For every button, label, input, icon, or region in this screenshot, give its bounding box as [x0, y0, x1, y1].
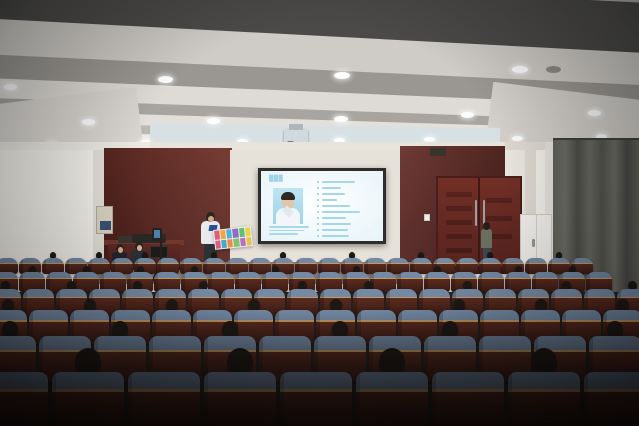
- camera-screen: [154, 230, 160, 238]
- seat-wood-trim: [128, 389, 200, 392]
- seat-wood-trim: [52, 389, 124, 392]
- seat-back-top: [152, 310, 191, 320]
- seat-wood-trim: [70, 320, 109, 322]
- seat-back-top: [188, 289, 219, 297]
- seat-back-top: [259, 336, 311, 350]
- slide-portrait-photo: [273, 188, 303, 224]
- bullet-dot-icon: [317, 187, 319, 189]
- seat-back-top: [275, 310, 314, 320]
- seat-cushion: [52, 392, 124, 426]
- slide-bullet-list: [317, 181, 381, 241]
- projection-screen-surface: ███: [261, 171, 383, 241]
- seat-back-top: [562, 310, 601, 320]
- seat-wood-trim: [0, 350, 36, 353]
- seat-back-top: [29, 310, 68, 320]
- seat-back-top: [353, 289, 384, 297]
- bullet-dot-icon: [317, 223, 319, 225]
- seat-edge-shadow: [584, 372, 588, 426]
- row-front: [0, 372, 639, 426]
- seat-back-top: [386, 289, 417, 297]
- seat-back-top: [204, 336, 256, 350]
- seat-cushion: [0, 392, 48, 426]
- slide-bullet-text: [322, 235, 349, 237]
- seat-back-top: [584, 289, 615, 297]
- seat-wood-trim: [584, 389, 639, 392]
- ceiling-downlight: [4, 84, 17, 90]
- seat-back-top: [23, 289, 54, 297]
- seat-wood-trim: [23, 297, 54, 298]
- desk-equipment: [118, 236, 132, 243]
- seat-wood-trim: [386, 297, 417, 298]
- poster-swatch: [233, 228, 239, 237]
- bullet-dot-icon: [317, 193, 319, 195]
- poster-swatch: [245, 227, 251, 236]
- ceiling: [0, 0, 639, 150]
- auditorium-photo: ███: [0, 0, 639, 426]
- seat-cushion: [280, 392, 352, 426]
- seat-wood-trim: [149, 350, 201, 353]
- seat-back-top: [518, 289, 549, 297]
- slide-bullet-item: [317, 187, 381, 189]
- seat-back-top: [479, 336, 531, 350]
- seat-wood-trim: [188, 297, 219, 298]
- auditorium-seat[interactable]: [52, 372, 124, 426]
- auditorium-seat[interactable]: [356, 372, 428, 426]
- seat-back-top: [480, 310, 519, 320]
- projection-screen: ███: [258, 168, 386, 244]
- slide-caption-line: [269, 230, 304, 232]
- seat-back-top: [320, 289, 351, 297]
- seat-back-top: [234, 310, 273, 320]
- auditorium-seat[interactable]: [204, 372, 276, 426]
- auditorium-seat[interactable]: [0, 372, 48, 426]
- seat-back-top: [0, 336, 36, 350]
- seat-back-top: [89, 289, 120, 297]
- judge-face: [118, 247, 123, 253]
- seat-back-top: [452, 289, 483, 297]
- poster-swatch: [220, 230, 226, 239]
- seat-back-top: [314, 336, 366, 350]
- poster-swatch: [214, 230, 220, 239]
- seat-wood-trim: [356, 389, 428, 392]
- slide-bullet-item: [317, 235, 381, 237]
- seat-cushion: [584, 392, 639, 426]
- seat-back-top: [584, 372, 639, 389]
- slide-caption: [269, 226, 309, 237]
- seat-edge-shadow: [508, 372, 512, 426]
- judge-face: [137, 245, 142, 251]
- seat-edge-shadow: [280, 372, 284, 426]
- seat-wood-trim: [353, 297, 384, 298]
- seat-wood-trim: [0, 297, 21, 298]
- slide-bullet-text: [322, 211, 360, 213]
- door-panel: [446, 248, 472, 253]
- seat-back-top: [56, 289, 87, 297]
- seat-edge-shadow: [52, 372, 56, 426]
- seat-back-top: [589, 336, 639, 350]
- seat-back-top: [149, 336, 201, 350]
- seat-back-top: [0, 310, 27, 320]
- wall-notice-plaque: [96, 206, 113, 234]
- door-header-sign: [430, 148, 446, 156]
- door-panel: [446, 220, 472, 225]
- seat-back-top: [254, 289, 285, 297]
- desk-monitor: [150, 246, 168, 258]
- seat-back-top: [193, 310, 232, 320]
- portrait-hair: [281, 192, 295, 200]
- seat-wood-trim: [56, 297, 87, 298]
- ceiling-downlight: [82, 119, 95, 125]
- seat-wood-trim: [259, 350, 311, 353]
- seat-wood-trim: [94, 350, 146, 353]
- door-panel: [446, 206, 472, 211]
- slide-bullet-item: [317, 181, 381, 183]
- bullet-dot-icon: [317, 235, 319, 237]
- seat-edge-shadow: [356, 372, 360, 426]
- poster-swatch: [215, 240, 221, 249]
- slide-caption-line: [269, 233, 298, 235]
- seat-wood-trim: [508, 389, 580, 392]
- seat-back-top: [287, 289, 318, 297]
- seat-back-top: [521, 310, 560, 320]
- seat-wood-trim: [424, 350, 476, 353]
- seat-wood-trim: [584, 297, 615, 298]
- seat-back-top: [551, 289, 582, 297]
- seat-wood-trim: [234, 320, 273, 322]
- seat-wood-trim: [398, 320, 437, 322]
- seat-back-top: [485, 289, 516, 297]
- seat-wood-trim: [479, 350, 531, 353]
- seat-back-top: [0, 372, 48, 389]
- seat-cushion: [356, 392, 428, 426]
- bullet-dot-icon: [317, 181, 319, 183]
- seat-back-top: [356, 372, 428, 389]
- ceiling-downlight: [588, 110, 601, 116]
- auditorium-seat[interactable]: [432, 372, 504, 426]
- seat-back-top: [439, 310, 478, 320]
- poster-swatch: [234, 238, 240, 247]
- seat-wood-trim: [254, 297, 285, 298]
- poster-swatch: [226, 229, 232, 238]
- poster-swatch: [240, 237, 246, 246]
- seat-back-top: [122, 289, 153, 297]
- door-center-seam: [478, 178, 480, 268]
- seat-back-top: [432, 372, 504, 389]
- seat-wood-trim: [29, 320, 68, 322]
- auditorium-seat[interactable]: [508, 372, 580, 426]
- seat-back-top: [424, 336, 476, 350]
- bullet-dot-icon: [317, 211, 319, 213]
- ceiling-downlight: [207, 118, 220, 124]
- seat-wood-trim: [122, 297, 153, 298]
- seat-wood-trim: [0, 263, 18, 264]
- seat-wood-trim: [480, 320, 519, 322]
- bullet-dot-icon: [317, 205, 319, 207]
- seat-back-top: [419, 289, 450, 297]
- seat-wood-trim: [152, 320, 191, 322]
- slide-bullet-item: [317, 229, 381, 231]
- slide-bullet-item: [317, 217, 381, 219]
- seat-back-top: [204, 372, 276, 389]
- auditorium-seat[interactable]: [280, 372, 352, 426]
- seat-wood-trim: [0, 278, 18, 279]
- seat-back-top: [155, 289, 186, 297]
- seat-wood-trim: [452, 297, 483, 298]
- slide-bullet-text: [322, 205, 350, 207]
- seat-wood-trim: [314, 350, 366, 353]
- slide-bullet-text: [322, 181, 355, 183]
- slide-bullet-text: [322, 187, 341, 189]
- slide-bullet-item: [317, 199, 381, 201]
- seat-back-top: [94, 336, 146, 350]
- seat-wood-trim: [221, 297, 252, 298]
- door-panel: [486, 216, 512, 221]
- seat-back-top: [398, 310, 437, 320]
- seat-back-top: [111, 310, 150, 320]
- bullet-dot-icon: [317, 229, 319, 231]
- slide-bullet-text: [322, 217, 346, 219]
- seat-cushion: [432, 392, 504, 426]
- light-switch[interactable]: [424, 214, 430, 221]
- auditorium-seat[interactable]: [128, 372, 200, 426]
- slide-bullet-text: [322, 229, 348, 231]
- seat-cushion: [204, 392, 276, 426]
- ceiling-downlight: [334, 116, 348, 122]
- seat-wood-trim: [589, 350, 639, 353]
- seat-back-top: [603, 310, 639, 320]
- ceiling-downlight: [461, 112, 474, 118]
- ceiling-downlight: [512, 136, 523, 141]
- seat-wood-trim: [204, 389, 276, 392]
- seat-wood-trim: [562, 320, 601, 322]
- seat-back-top: [0, 289, 21, 297]
- slide-bullet-text: [322, 199, 337, 201]
- seat-back-top: [221, 289, 252, 297]
- seat-cushion: [128, 392, 200, 426]
- poster-swatch: [239, 228, 245, 237]
- door-panel: [446, 234, 472, 239]
- attendee-body: [481, 229, 492, 248]
- seat-wood-trim: [603, 320, 639, 322]
- poster-swatch: [246, 237, 252, 246]
- door-handle-icon[interactable]: [475, 200, 477, 226]
- seat-back-top: [128, 372, 200, 389]
- slide-bullet-item: [317, 211, 381, 213]
- seat-wood-trim: [518, 297, 549, 298]
- seat-wood-trim: [280, 389, 352, 392]
- slide-title: ███: [269, 176, 283, 182]
- poster-swatch: [227, 239, 233, 248]
- ceiling-downlight: [546, 66, 561, 73]
- seat-wood-trim: [275, 320, 314, 322]
- seat-cushion: [508, 392, 580, 426]
- seat-wood-trim: [287, 297, 318, 298]
- seat-wood-trim: [357, 320, 396, 322]
- ceiling-downlight: [334, 72, 350, 79]
- seat-back-top: [316, 310, 355, 320]
- seat-back-top: [280, 372, 352, 389]
- seat-back-top: [70, 310, 109, 320]
- seat-edge-shadow: [432, 372, 436, 426]
- seat-wood-trim: [485, 297, 516, 298]
- colorful-poster-board: [213, 226, 253, 250]
- slide-bullet-text: [322, 193, 345, 195]
- ceiling-downlight: [512, 66, 528, 73]
- bullet-dot-icon: [317, 199, 319, 201]
- seat-wood-trim: [89, 297, 120, 298]
- slide-bullet-item: [317, 193, 381, 195]
- slide-bullet-item: [317, 223, 381, 225]
- door-panel: [446, 192, 472, 197]
- slide-bullet-text: [322, 223, 351, 225]
- seat-wood-trim: [419, 297, 450, 298]
- attendee-head: [483, 222, 490, 230]
- seat-edge-shadow: [128, 372, 132, 426]
- seat-wood-trim: [155, 297, 186, 298]
- bullet-dot-icon: [317, 217, 319, 219]
- slide-bullet-item: [317, 205, 381, 207]
- door-panel: [486, 198, 512, 203]
- poster-swatch: [221, 239, 227, 248]
- seat-wood-trim: [0, 389, 48, 392]
- auditorium-seat[interactable]: [584, 372, 639, 426]
- seat-wood-trim: [432, 389, 504, 392]
- ceiling-downlight: [158, 76, 173, 83]
- seat-edge-shadow: [204, 372, 208, 426]
- seat-back-top: [508, 372, 580, 389]
- presenter-face: [208, 216, 214, 222]
- slide-caption-line: [269, 226, 309, 228]
- seat-back-top: [52, 372, 124, 389]
- seat-back-top: [357, 310, 396, 320]
- seat-wood-trim: [521, 320, 560, 322]
- seat-wood-trim: [551, 297, 582, 298]
